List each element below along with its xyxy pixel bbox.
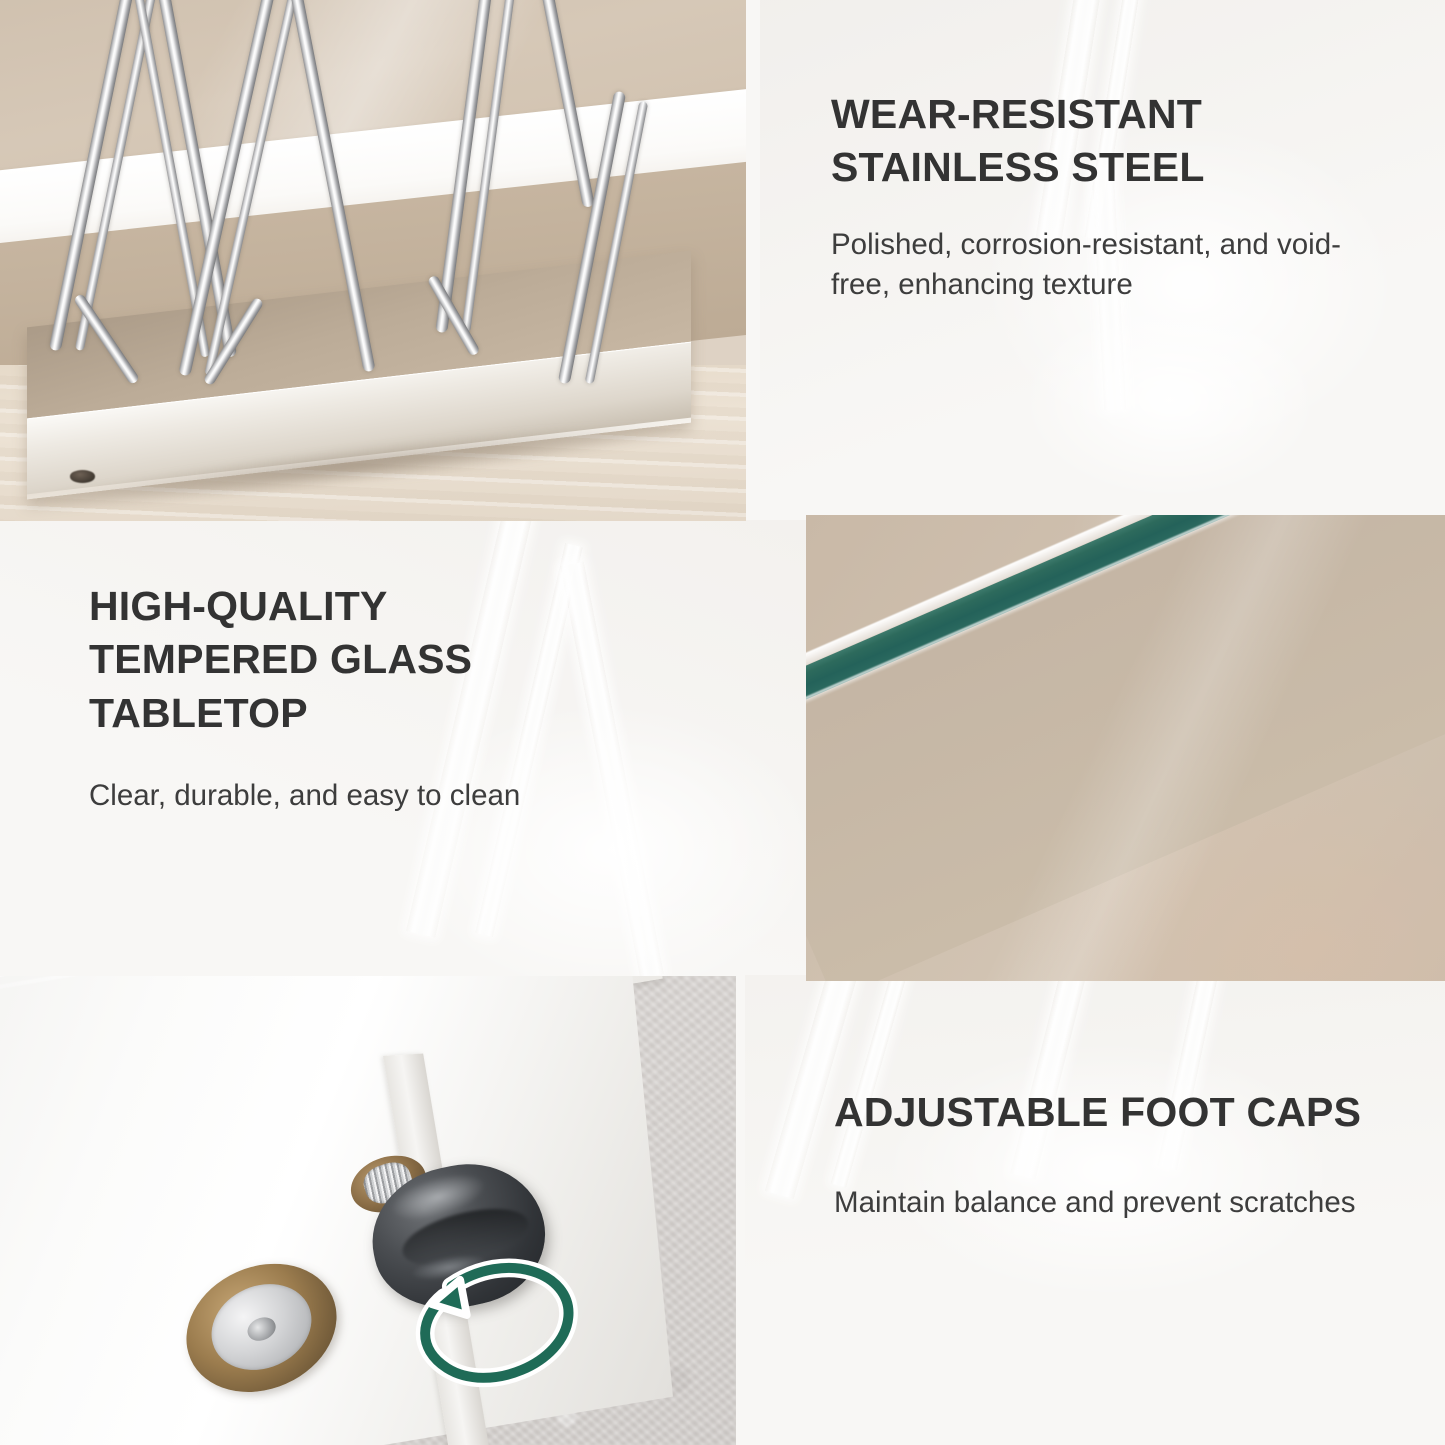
feature-heading-stainless-steel: WEAR-RESISTANT STAINLESS STEEL: [831, 88, 1371, 195]
feature-block-foot-caps: ADJUSTABLE FOOT CAPS Maintain balance an…: [834, 1086, 1379, 1224]
feature-body-foot-caps: Maintain balance and prevent scratches: [834, 1183, 1379, 1224]
adjustable-foot-cap-photo: [0, 976, 736, 1445]
stainless-steel-base-photo: [0, 0, 746, 521]
feature-heading-foot-caps: ADJUSTABLE FOOT CAPS: [834, 1086, 1379, 1139]
feature-body-tempered-glass: Clear, durable, and easy to clean: [89, 776, 564, 817]
infographic-page: WEAR-RESISTANT STAINLESS STEEL Polished,…: [0, 0, 1445, 1445]
tempered-glass-edge-photo: [806, 515, 1445, 981]
feature-block-tempered-glass: HIGH-QUALITY TEMPERED GLASS TABLETOP Cle…: [89, 580, 564, 817]
feature-body-stainless-steel: Polished, corrosion-resistant, and void-…: [831, 225, 1371, 306]
rotation-arrow-icon: [324, 1229, 663, 1417]
feature-heading-tempered-glass: HIGH-QUALITY TEMPERED GLASS TABLETOP: [89, 580, 564, 740]
feature-block-stainless-steel: WEAR-RESISTANT STAINLESS STEEL Polished,…: [831, 88, 1371, 306]
